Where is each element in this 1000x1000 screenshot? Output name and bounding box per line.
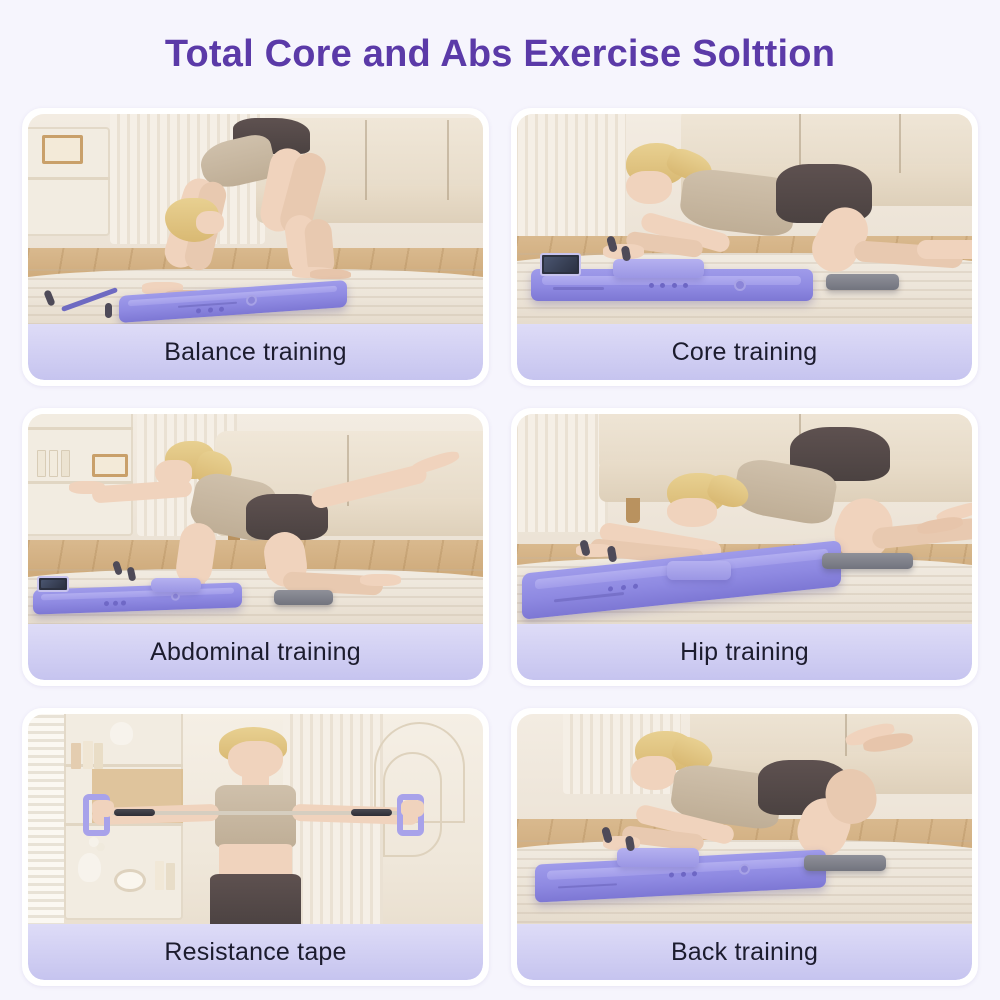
phone-holder: [540, 253, 581, 276]
exercise-card-back[interactable]: Back training: [511, 708, 978, 986]
photo-resistance-tape: [28, 714, 483, 924]
knee-pad: [804, 855, 886, 872]
exercise-card-balance[interactable]: Balance training: [22, 108, 489, 386]
picture-frame: [42, 135, 83, 164]
card-inner: Back training: [517, 714, 972, 980]
photo-core-training: [517, 114, 972, 324]
knee-pad: [826, 274, 899, 291]
card-inner: Balance training: [28, 114, 483, 380]
page-title: Total Core and Abs Exercise Solttion: [165, 33, 835, 76]
phone-holder: [37, 576, 69, 593]
card-inner: Core training: [517, 114, 972, 380]
photo-back-training: [517, 714, 972, 924]
knee-pad: [822, 553, 913, 570]
card-caption-back: Back training: [517, 924, 972, 980]
card-caption-hip: Hip training: [517, 624, 972, 680]
card-caption-core: Core training: [517, 324, 972, 380]
card-inner: Hip training: [517, 414, 972, 680]
knee-pad: [274, 590, 333, 605]
title-container: Total Core and Abs Exercise Solttion: [0, 0, 1000, 108]
card-inner: Resistance tape: [28, 714, 483, 980]
card-caption-balance: Balance training: [28, 324, 483, 380]
photo-balance-training: [28, 114, 483, 324]
exercise-card-core[interactable]: Core training: [511, 108, 978, 386]
exercise-card-resistance[interactable]: Resistance tape: [22, 708, 489, 986]
card-caption-resistance: Resistance tape: [28, 924, 483, 980]
infographic-page: Total Core and Abs Exercise Solttion: [0, 0, 1000, 1000]
photo-abdominal-training: [28, 414, 483, 624]
arm-pad: [613, 259, 704, 278]
card-inner: Abdominal training: [28, 414, 483, 680]
card-caption-abdominal: Abdominal training: [28, 624, 483, 680]
exercise-card-hip[interactable]: Hip training: [511, 408, 978, 686]
exercise-card-abdominal[interactable]: Abdominal training: [22, 408, 489, 686]
photo-hip-training: [517, 414, 972, 624]
exercise-card-grid: Balance training: [22, 108, 978, 986]
